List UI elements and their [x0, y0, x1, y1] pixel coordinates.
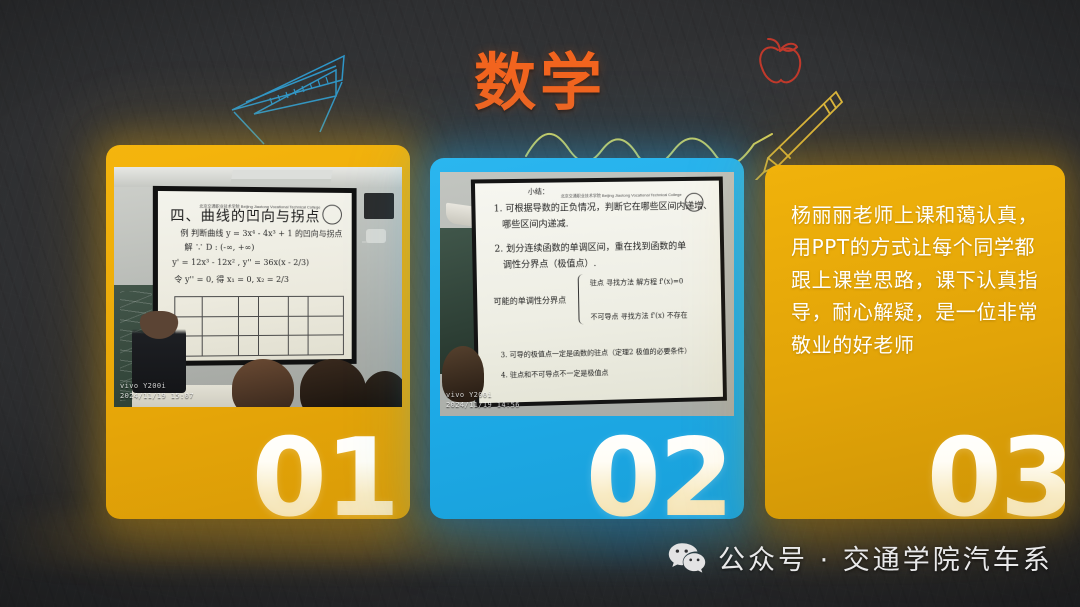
- school-logo-text: 北京交通职业技术学院 Beijing Jiaotong Vocational T…: [199, 203, 320, 210]
- projector-screen: 四、曲线的凹向与拐点 北京交通职业技术学院 Beijing Jiaotong V…: [158, 191, 352, 361]
- projector-screen: 北京交通职业技术学院 Beijing Jiaotong Vocational T…: [475, 181, 723, 404]
- camera-model: vivo Y200i: [120, 382, 194, 391]
- teacher-figure: [132, 311, 186, 393]
- testimonial-text: 杨丽丽老师上课和蔼认真，用PPT的方式让每个同学都跟上课堂思路，课下认真指导，耐…: [791, 199, 1049, 361]
- brace-mark: [578, 274, 589, 324]
- slide-heading: 小结：: [528, 187, 549, 197]
- slide-line-3: y' = 12x³ - 12x² , y'' = 36x(x - 2/3): [172, 258, 309, 267]
- footer: 公众号 · 交通学院汽车系: [668, 538, 1053, 577]
- camera-watermark: vivo Y200i 2024/11/19 14:56: [446, 391, 520, 410]
- card-number-01: 01: [252, 425, 398, 519]
- slide-line-9: 4. 驻点和不可导点不一定是极值点: [501, 368, 609, 381]
- slide-line-6: 驻点 寻找方法 解方程 f'(x)=0: [590, 276, 684, 288]
- card-number-02: 02: [586, 425, 732, 519]
- slide-line-2: 解 ∵ D : (-∞, +∞): [184, 242, 254, 253]
- card-01[interactable]: 四、曲线的凹向与拐点 北京交通职业技术学院 Beijing Jiaotong V…: [106, 145, 410, 519]
- camera-watermark: vivo Y200i 2024/11/19 15:07: [120, 382, 194, 401]
- camera-model: vivo Y200i: [446, 391, 520, 400]
- speaker-box: [364, 193, 394, 219]
- camera-timestamp: 2024/11/19 14:56: [446, 401, 520, 410]
- slide-line-8: 3. 可导的极值点一定是函数的驻点（定理2 极值的必要条件）: [501, 346, 692, 360]
- page-title: 数学: [0, 52, 1080, 114]
- school-logo-icon: [322, 205, 342, 225]
- slide-line-4: 令 y'' = 0, 得 x₁ = 0, x₂ = 2/3: [174, 274, 289, 285]
- wechat-icon: [668, 542, 706, 574]
- slide-line-2: 哪些区间内递减.: [502, 216, 569, 230]
- slide-line-7: 不可导点 寻找方法 f'(x) 不存在: [590, 310, 687, 322]
- slide-line-1: 例 判断曲线 y = 3x⁴ - 4x³ + 1 的凹向与拐点: [180, 228, 342, 240]
- slide-sign-table: [174, 296, 344, 357]
- slide-line-1: 1. 可根据导数的正负情况，判断它在哪些区间内递增、: [494, 199, 712, 215]
- classroom-photo-01: 四、曲线的凹向与拐点 北京交通职业技术学院 Beijing Jiaotong V…: [114, 167, 402, 407]
- classroom-photo-02: 北京交通职业技术学院 Beijing Jiaotong Vocational T…: [440, 172, 734, 416]
- slide-canvas: 数学: [0, 0, 1080, 607]
- apple-icon: [748, 34, 810, 90]
- card-02[interactable]: 北京交通职业技术学院 Beijing Jiaotong Vocational T…: [430, 158, 744, 519]
- ceiling-camera: [366, 229, 386, 243]
- projector-screen-frame: 北京交通职业技术学院 Beijing Jiaotong Vocational T…: [471, 177, 727, 408]
- card-03[interactable]: 杨丽丽老师上课和蔼认真，用PPT的方式让每个同学都跟上课堂思路，课下认真指导，耐…: [765, 165, 1065, 519]
- slide-line-5: 可能的单调性分界点: [493, 295, 566, 307]
- slide-line-3: 2. 划分连续函数的单调区间，重在找到函数的单: [494, 239, 686, 255]
- footer-label: 公众号 · 交通学院汽车系: [718, 538, 1053, 577]
- slide-line-4: 调性分界点（极值点）.: [503, 256, 597, 271]
- card-01-photo-frame: 四、曲线的凹向与拐点 北京交通职业技术学院 Beijing Jiaotong V…: [114, 167, 402, 407]
- card-02-photo-frame: 北京交通职业技术学院 Beijing Jiaotong Vocational T…: [440, 172, 734, 416]
- camera-timestamp: 2024/11/19 15:07: [120, 392, 194, 401]
- card-number-03: 03: [927, 425, 1065, 519]
- triangle-ruler-icon: [224, 40, 364, 152]
